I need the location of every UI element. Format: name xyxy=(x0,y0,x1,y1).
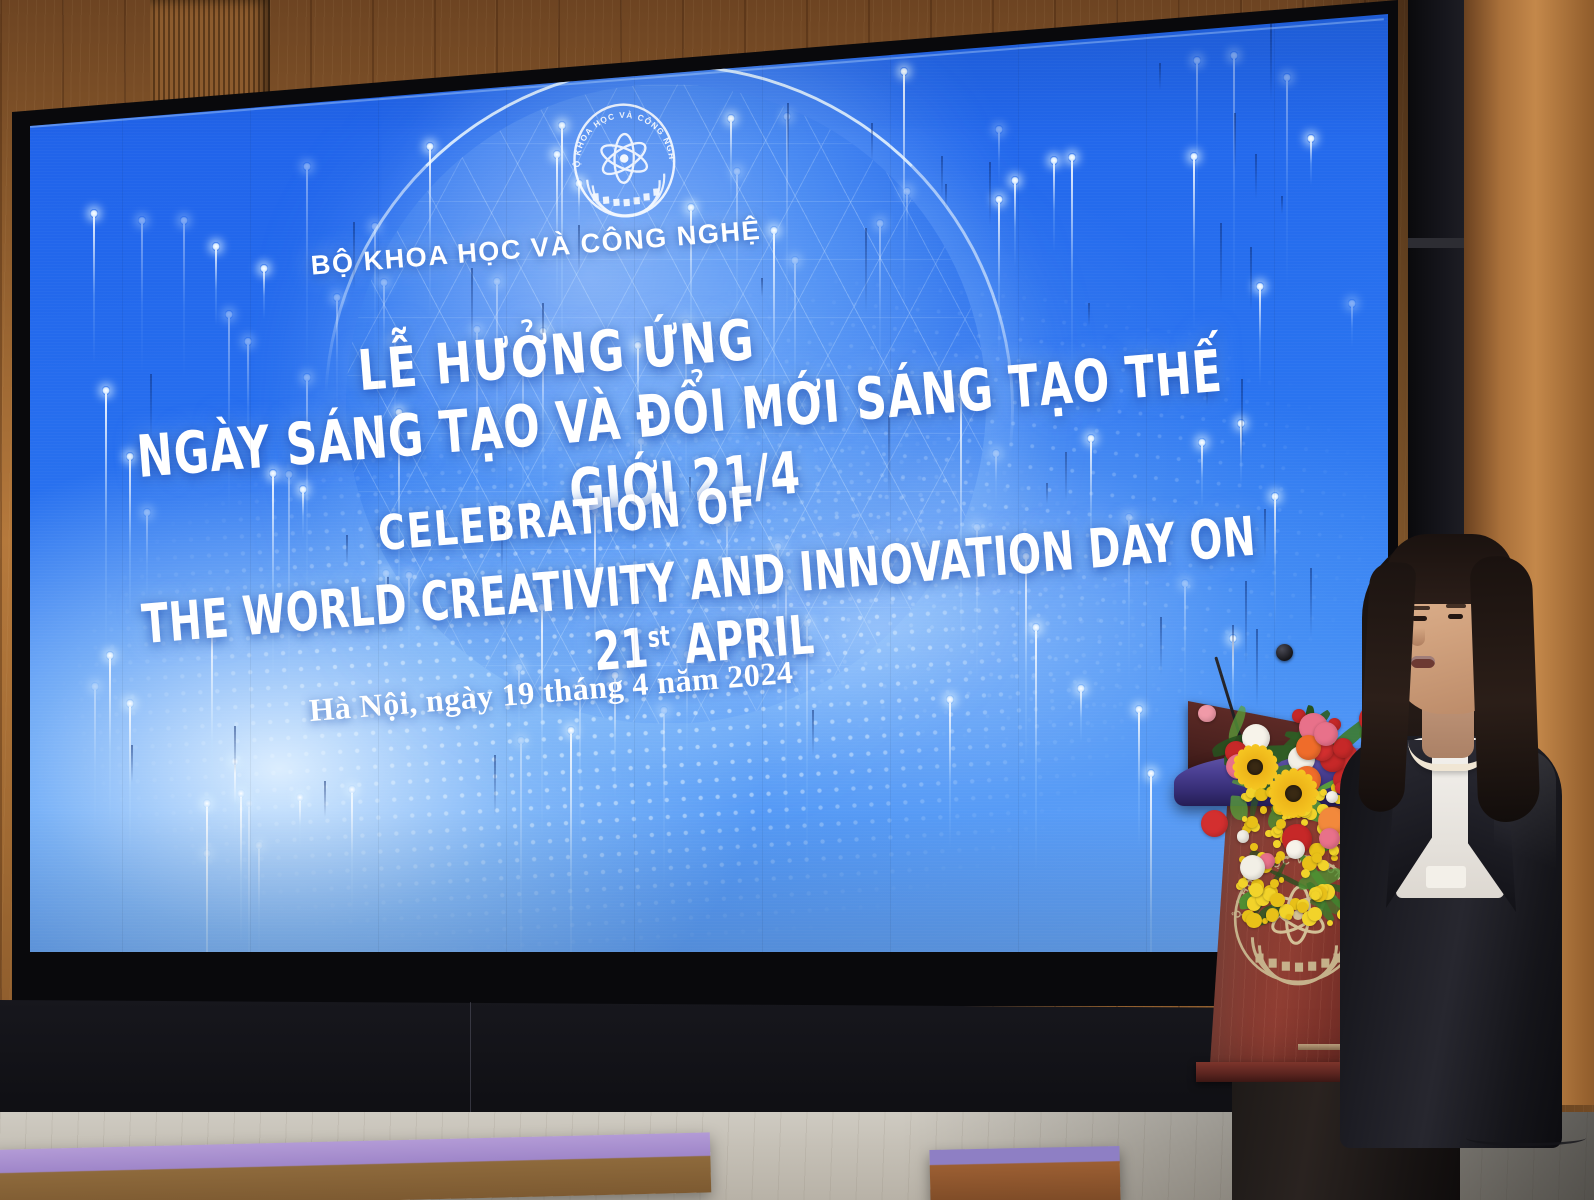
bouquet-yellow-floret xyxy=(1327,920,1333,926)
bouquet-yellow-floret xyxy=(1270,893,1284,907)
foreground-wooden-box xyxy=(929,1146,1120,1200)
bouquet-carnation xyxy=(1237,830,1250,843)
bouquet-carnation xyxy=(1198,705,1216,723)
bouquet-yellow-floret xyxy=(1249,883,1263,897)
bouquet-yellow-floret xyxy=(1279,877,1284,882)
photo-scene: BỘ KHOA HỌC VÀ CÔNG NGHỆ xyxy=(0,0,1594,1200)
bouquet-yellow-floret xyxy=(1273,840,1281,848)
skirting-seam xyxy=(470,1002,471,1124)
bouquet-carnation xyxy=(1286,840,1305,859)
bouquet-yellow-floret xyxy=(1260,806,1268,814)
bouquet-yellow-floret xyxy=(1308,907,1322,921)
bouquet-yellow-floret xyxy=(1250,843,1258,851)
bouquet-yellow-floret xyxy=(1311,891,1320,900)
speaker-person xyxy=(1334,528,1564,1148)
bouquet-yellow-floret xyxy=(1266,909,1278,921)
bouquet-yellow-floret xyxy=(1286,914,1292,920)
bouquet-carnation xyxy=(1240,855,1265,880)
bouquet-yellow-floret xyxy=(1276,819,1286,829)
speaker-hair-right xyxy=(1469,555,1540,823)
floor-cable xyxy=(1466,1130,1586,1146)
bouquet-yellow-floret xyxy=(1246,913,1262,929)
bouquet-yellow-floret xyxy=(1270,879,1279,888)
bouquet-carnation xyxy=(1201,810,1228,837)
speaker-eye-right xyxy=(1448,614,1463,619)
speaker-eyebrow-right xyxy=(1446,604,1466,608)
bouquet-sunflower xyxy=(1268,768,1318,818)
speaker-name-badge xyxy=(1426,866,1466,888)
microphone-icon xyxy=(1276,644,1293,661)
speaker-mouth xyxy=(1411,656,1435,668)
bouquet-yellow-floret xyxy=(1238,878,1248,888)
speaker-eye-left xyxy=(1412,616,1427,621)
